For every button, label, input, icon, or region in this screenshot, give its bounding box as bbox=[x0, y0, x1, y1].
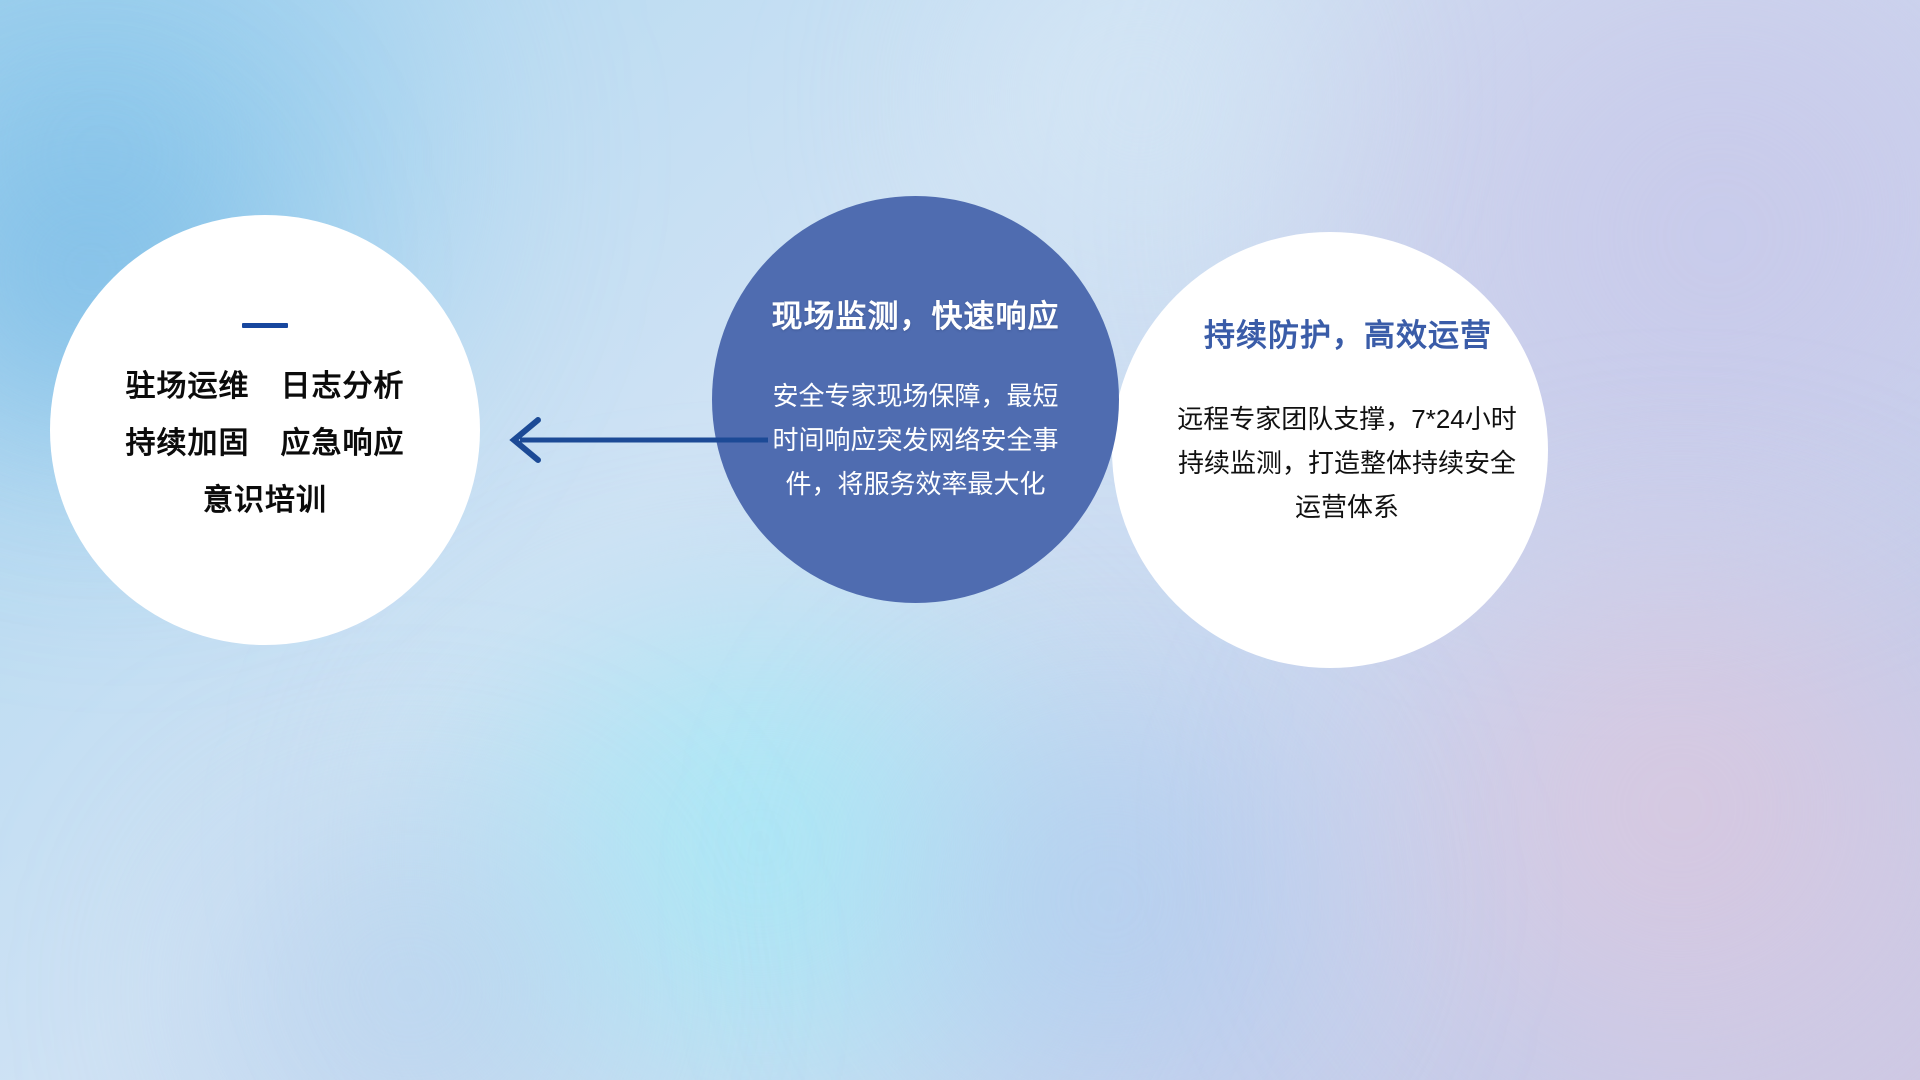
capability-list: 驻场运维 日志分析 持续加固 应急响应 意识培训 bbox=[126, 358, 405, 529]
capability-line-2: 持续加固 应急响应 bbox=[126, 415, 405, 472]
service-capability-circle[interactable]: 驻场运维 日志分析 持续加固 应急响应 意识培训 bbox=[50, 215, 480, 645]
onsite-monitoring-circle[interactable]: 现场监测，快速响应 安全专家现场保障，最短时间响应突发网络安全事件，将服务效率最… bbox=[712, 196, 1119, 603]
slide-canvas: 驻场运维 日志分析 持续加固 应急响应 意识培训 现场监测，快速响应 安全专家现… bbox=[0, 0, 1920, 1080]
capability-line-1: 驻场运维 日志分析 bbox=[126, 358, 405, 415]
capability-line-3: 意识培训 bbox=[126, 472, 405, 529]
continuous-protection-circle[interactable] bbox=[1112, 232, 1548, 668]
onsite-monitoring-body: 安全专家现场保障，最短时间响应突发网络安全事件，将服务效率最大化 bbox=[766, 374, 1066, 506]
flow-arrow-left bbox=[480, 405, 770, 475]
divider-line bbox=[242, 323, 288, 328]
onsite-monitoring-heading: 现场监测，快速响应 bbox=[772, 291, 1060, 336]
